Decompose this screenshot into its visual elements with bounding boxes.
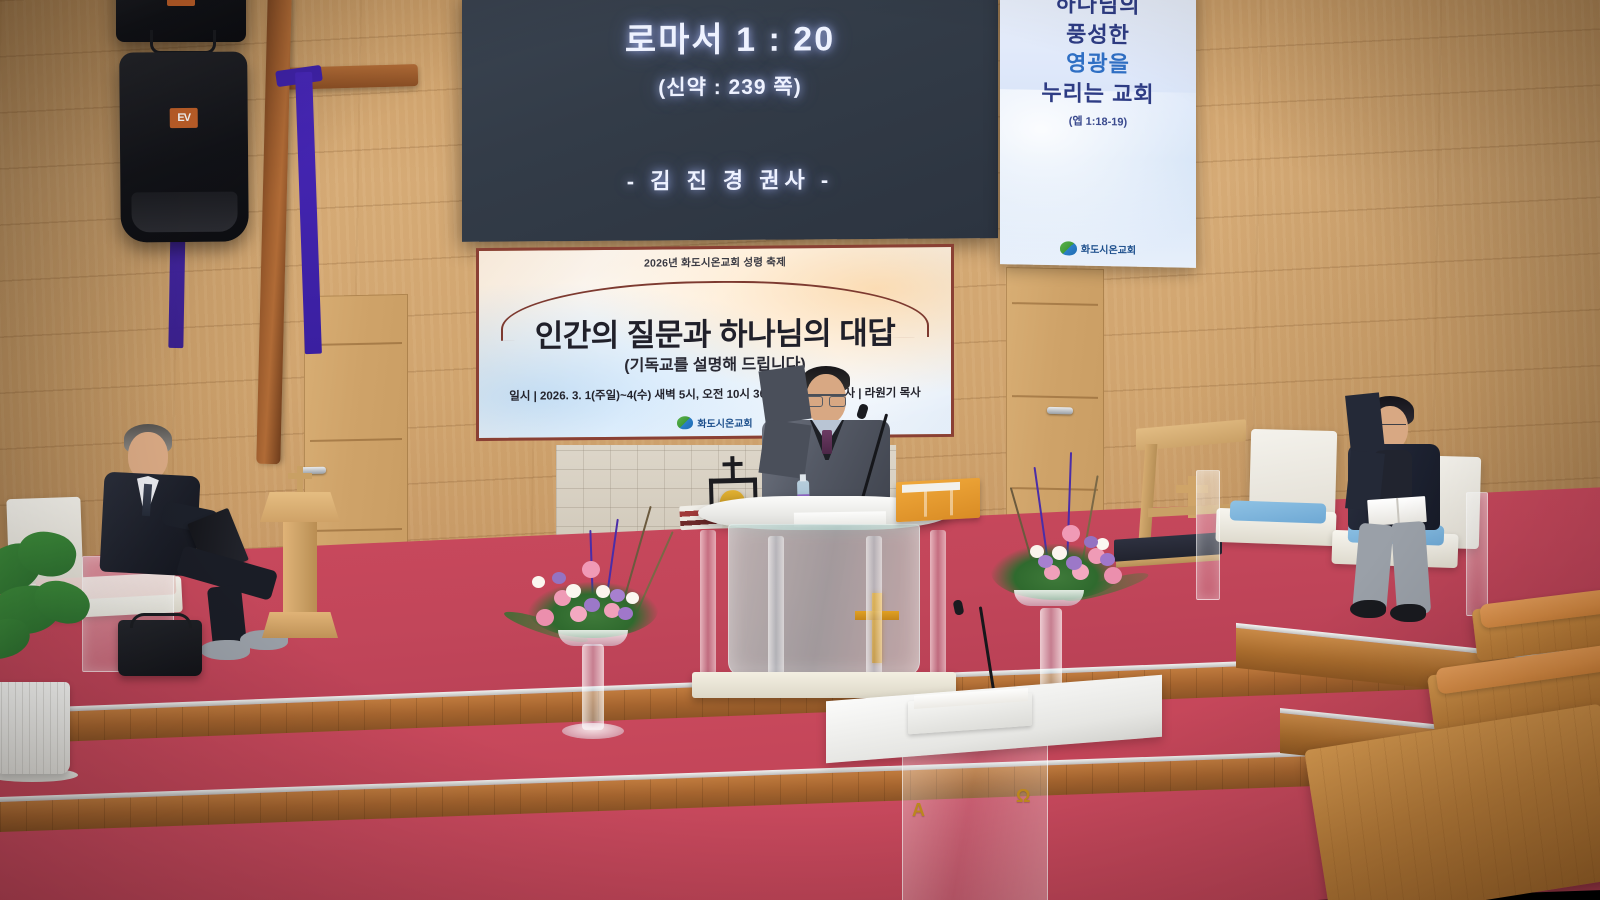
necktie [822, 430, 832, 454]
event-eyebrow: 2026년 화도시온교회 성령 축제 [479, 253, 951, 272]
speaker-horn [131, 192, 237, 233]
flower-white [532, 576, 545, 588]
side-panel-right-2[interactable] [1466, 492, 1488, 616]
shoe-right [1390, 604, 1426, 622]
vision-line-2: 풍성한 [1000, 18, 1196, 51]
monstera-plant [0, 524, 114, 774]
scripture-reference: 로마서 1 : 20 [625, 11, 835, 61]
flower-arrangement-left [508, 470, 678, 730]
flower-rose-pink [536, 609, 554, 626]
flower-rose-pink [1104, 567, 1122, 584]
flower-rose-pink [582, 561, 600, 578]
pulpit-glass-column [866, 536, 882, 686]
wooden-pedestal-left [256, 478, 344, 638]
ev-brand-icon: EV [167, 0, 195, 6]
glasses-icon [806, 394, 846, 403]
flower-white [596, 585, 610, 598]
ev-speaker-main: EV [119, 51, 249, 242]
glass-stand [582, 644, 604, 730]
pulpit-glass-column [768, 536, 784, 686]
main-pulpit [676, 496, 972, 706]
glass-stand [1040, 608, 1062, 694]
chair-right-cushion-1 [1230, 500, 1327, 523]
church-logo-mark-icon [1060, 241, 1077, 255]
stand-foot [562, 723, 624, 739]
flower-statice [1066, 556, 1082, 570]
flower-rose-pink [1062, 525, 1080, 542]
flower-statice [1038, 555, 1053, 568]
seated-man-right [1348, 394, 1468, 634]
speaker-bracket [150, 30, 216, 54]
flower-statice [618, 607, 633, 620]
vision-banner: 하나님의 풍성한 영광을 누리는 교회 (엡 1:18-19) 화도시온교회 [1000, 0, 1196, 268]
front-lectern[interactable]: Α Ω [826, 688, 1162, 900]
church-logo-mark-icon [677, 416, 693, 429]
shoe-left [1350, 600, 1386, 618]
leg-right [1391, 521, 1431, 615]
ev-brand-icon: EV [170, 108, 198, 128]
flower-statice [552, 572, 566, 584]
cross-icon [297, 466, 303, 494]
arm-left [1345, 392, 1385, 453]
leg-left [1352, 523, 1393, 612]
plant-pot [0, 682, 70, 774]
vision-verse: (엡 1:18-19) [1000, 113, 1196, 132]
flower-statice [1084, 536, 1098, 548]
offering-tray[interactable] [896, 478, 980, 522]
pedestal-shaft [283, 522, 317, 614]
pulpit-glass-column [700, 530, 716, 680]
pulpit-glass-body [728, 524, 920, 676]
sanctuary-scene: EV EV 로마서 1 : 20 (신약 : 239 쪽) - 김 진 경 권사… [0, 0, 1600, 900]
cross-icon [730, 456, 735, 480]
flower-white [1096, 538, 1109, 550]
flower-white [1052, 546, 1067, 560]
reader-name: - 김 진 경 권사 - [627, 162, 833, 195]
church-logo-text: 화도시온교회 [1081, 241, 1136, 257]
pedestal-foot [262, 612, 338, 638]
church-logo-text: 화도시온교회 [697, 415, 752, 430]
vision-line-4: 누리는 교회 [1000, 77, 1196, 110]
flower-white [626, 592, 639, 604]
flower-statice [1100, 553, 1115, 566]
flower-arrangement-right [1000, 428, 1170, 698]
flower-statice [610, 589, 625, 602]
lectern-acrylic-stem [902, 742, 1048, 900]
flower-statice [584, 598, 600, 612]
projection-screen: 로마서 1 : 20 (신약 : 239 쪽) - 김 진 경 권사 - [462, 0, 998, 242]
church-logo: 화도시온교회 [1000, 239, 1196, 258]
side-panel-right[interactable] [1196, 470, 1220, 600]
scripture-page-note: (신약 : 239 쪽) [658, 70, 801, 101]
flower-bowl [1014, 590, 1084, 606]
vision-line-3: 영광을 [1000, 47, 1196, 80]
arm-right [758, 419, 811, 479]
pulpit-glass-column [930, 530, 946, 680]
omega-symbol-icon: Ω [1016, 786, 1030, 807]
pedestal-top [260, 492, 340, 522]
black-bag [118, 620, 202, 676]
alpha-symbol-icon: Α [912, 800, 925, 821]
arm-left [758, 365, 811, 425]
flower-white [566, 584, 581, 598]
door-handle-icon[interactable] [1047, 407, 1073, 415]
